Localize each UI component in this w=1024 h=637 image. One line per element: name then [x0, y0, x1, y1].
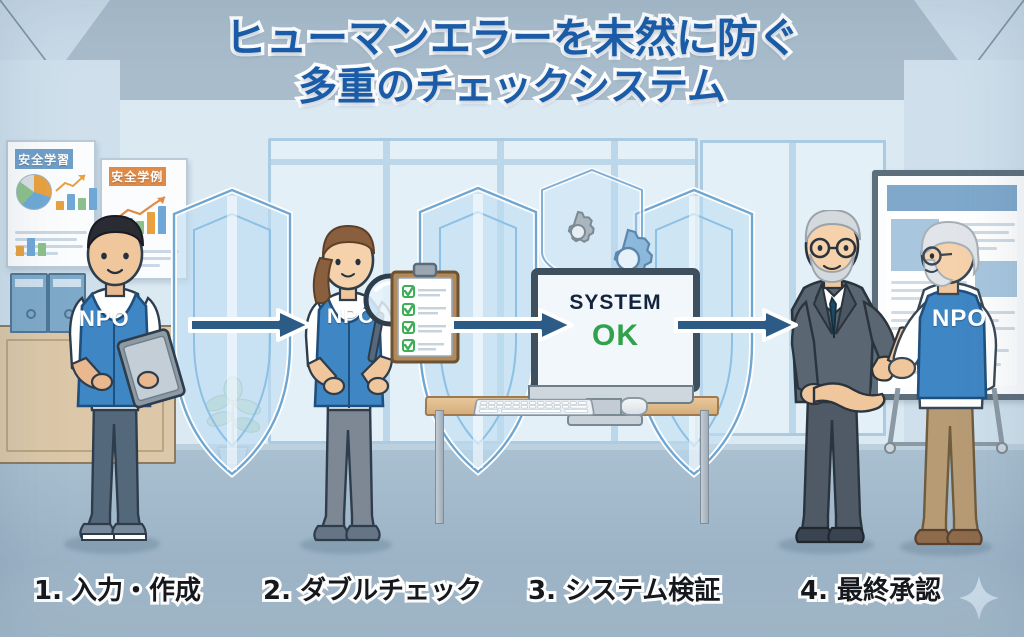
- pie-chart-icon: [16, 174, 52, 210]
- binder-1: [10, 273, 48, 333]
- step-captions: 1. 入力・作成 2. ダブルチェック 3. システム検証 4. 最終承認: [0, 570, 1024, 618]
- vest-label-npo-1: NPO: [79, 306, 130, 332]
- desk-leg-left: [435, 410, 444, 524]
- vest-label-npo-3: NPO: [932, 305, 987, 333]
- poster-heading: 安全学習: [15, 149, 73, 169]
- flow-arrow-1: [186, 306, 314, 344]
- keyboard: [467, 398, 601, 417]
- window-transom-bar: [271, 159, 695, 165]
- flow-arrow-3: [672, 306, 800, 344]
- trend-line-icon: [54, 172, 88, 194]
- person-senior-npo-vest: [888, 220, 1024, 550]
- title-line-2: 多重のチェックシステム: [0, 63, 1024, 112]
- poster-mini-bars: [16, 234, 46, 256]
- step-caption-3: 3. システム検証: [528, 570, 720, 607]
- step-caption-2: 2. ダブルチェック: [263, 570, 482, 607]
- page-title: ヒューマンエラーを未然に防ぐ 多重のチェックシステム: [0, 14, 1024, 112]
- step-caption-4: 4. 最終承認: [800, 570, 941, 607]
- flow-arrow-2: [448, 306, 576, 344]
- poster-heading: 安全学例: [109, 167, 166, 186]
- document-header-bar: [887, 185, 1017, 211]
- desk-leg-right: [700, 410, 709, 524]
- handshake: [806, 372, 890, 418]
- title-line-1: ヒューマンエラーを未然に防ぐ: [0, 14, 1024, 63]
- gear-small-gray-icon: [557, 210, 601, 254]
- step-caption-1: 1. 入力・作成: [34, 570, 201, 607]
- infographic-canvas: 安全学習 安全学例: [0, 0, 1024, 637]
- person-staff-with-tablet: [48, 214, 188, 544]
- computer-mouse: [620, 397, 648, 416]
- sparkle-star-icon: [958, 575, 1000, 621]
